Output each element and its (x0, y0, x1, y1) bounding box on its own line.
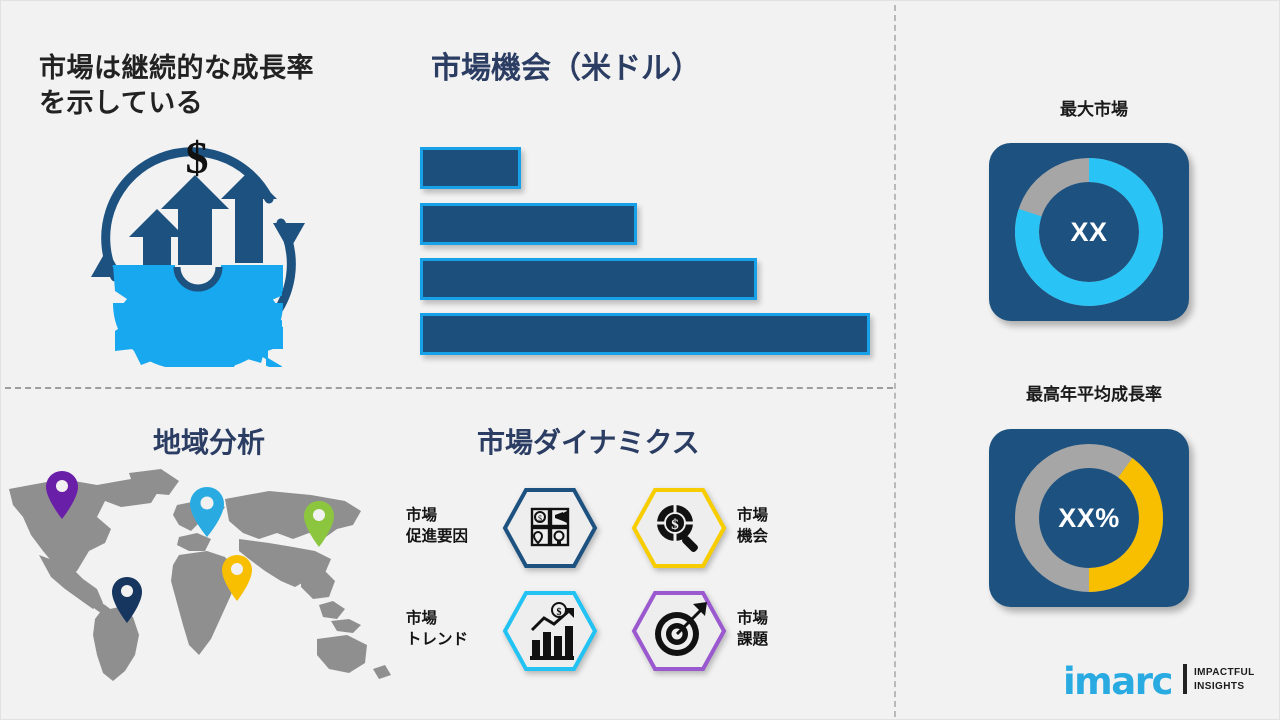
target-dart-icon (631, 590, 727, 672)
opportunity-bar-chart (420, 147, 880, 355)
dynamics-item-market-drivers[interactable]: 市場 促進要因 $ (406, 481, 616, 573)
opportunity-section-title: 市場機会（米ドル） (431, 51, 701, 87)
growth-cycle-gear-icon: $ (73, 127, 323, 367)
bar-row (420, 313, 870, 355)
svg-text:$: $ (557, 607, 562, 618)
largest-market-title: 最大市場 (949, 95, 1239, 120)
dynamics-grid: 市場 促進要因 $ (406, 481, 826, 676)
logo-tagline: IMPACTFUL INSIGHTS (1194, 666, 1255, 693)
divider-vertical (894, 5, 896, 717)
imarc-logo[interactable]: imarc IMPACTFUL INSIGHTS (1063, 656, 1268, 706)
pin-middle-east-africa[interactable] (219, 553, 255, 603)
dynamics-item-label: 市場 課題 (727, 609, 823, 651)
dynamics-item-market-opportunity[interactable]: $ $ 市場 機会 (631, 481, 841, 573)
pin-north-america[interactable] (43, 469, 81, 521)
highest-cagr-donut-label: XX% (1058, 503, 1120, 534)
pin-east-asia[interactable] (301, 499, 337, 549)
svg-text:$: $ (538, 514, 542, 523)
svg-text:$: $ (186, 132, 209, 183)
bar-row (420, 147, 521, 189)
highest-cagr-donut-card: XX% (989, 429, 1189, 607)
region-section-title: 地域分析 (153, 426, 265, 460)
growth-section-title: 市場は継続的な成長率 を示している (39, 51, 379, 120)
puzzle-pieces-icon: $ (502, 487, 598, 569)
largest-market-donut-card: XX (989, 143, 1189, 321)
svg-text:$: $ (671, 517, 679, 533)
logo-wordmark: imarc (1063, 660, 1172, 703)
slide-canvas: 市場は継続的な成長率 を示している $ 市場機会（米ドル） 地域分析 (0, 0, 1280, 720)
dynamics-item-market-trends[interactable]: 市場 トレンド $ (406, 584, 616, 676)
magnifier-dollar-icon: $ $ (631, 487, 727, 569)
dynamics-item-label: 市場 機会 (727, 506, 823, 548)
dynamics-item-market-challenges[interactable]: 市場 課題 (631, 584, 841, 676)
dynamics-section-title: 市場ダイナミクス (477, 426, 700, 460)
divider-horizontal (5, 387, 893, 389)
pin-south-america[interactable] (109, 575, 145, 625)
largest-market-donut-label: XX (1070, 217, 1107, 248)
bar-row (420, 203, 637, 245)
dynamics-item-label: 市場 促進要因 (406, 506, 502, 548)
highest-cagr-title: 最高年平均成長率 (949, 380, 1239, 405)
dynamics-item-label: 市場 トレンド (406, 609, 502, 651)
logo-divider (1183, 664, 1187, 694)
bar-row (420, 258, 757, 300)
pin-europe[interactable] (187, 485, 227, 539)
bar-chart-growth-icon: $ (502, 590, 598, 672)
